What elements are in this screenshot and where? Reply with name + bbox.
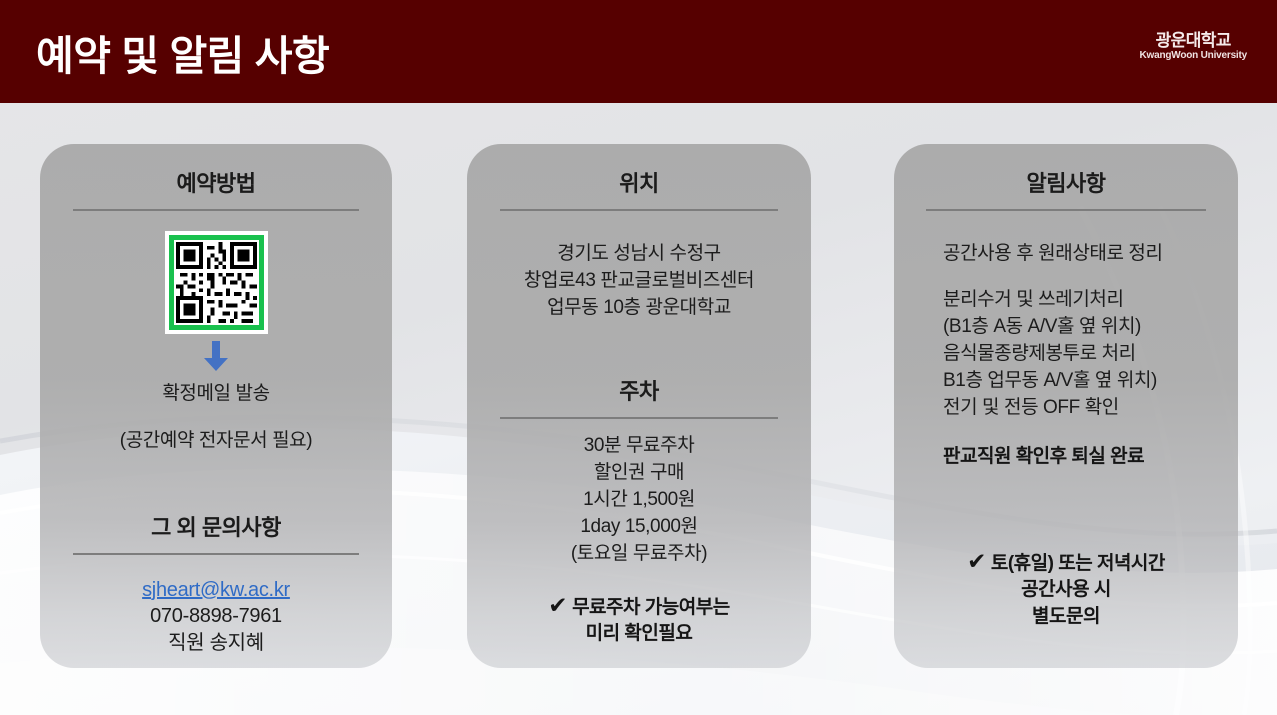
email-link[interactable]: sjheart@kw.ac.kr	[40, 577, 392, 603]
page-title: 예약 및 알림 사항	[36, 22, 329, 82]
contact-list: sjheart@kw.ac.kr 070-8898-7961 직원 송지혜	[40, 577, 392, 657]
final-line-3: 별도문의	[1032, 606, 1100, 627]
address-line: 창업로43 판교글로벌비즈센터	[467, 268, 811, 295]
parking-check-line1: 무료주차 가능여부는	[572, 597, 730, 618]
parking-list: 30분 무료주차 할인권 구매 1시간 1,500원 1day 15,000원 …	[467, 433, 811, 568]
notices-divider	[926, 209, 1206, 211]
final-line-1: 토(휴일) 또는 저녁시간	[991, 553, 1165, 574]
staff-name: 직원 송지혜	[40, 630, 392, 657]
notice-line: 공간사용 후 원래상태로 정리	[943, 241, 1238, 268]
title-divider	[73, 209, 359, 211]
logo-korean-text: 광운대학교	[1140, 32, 1248, 50]
card-location-parking: 위치 경기도 성남시 수정구 창업로43 판교글로벌비즈센터 업무동 10층 광…	[467, 144, 811, 668]
final-line-2: 공간사용 시	[1021, 579, 1111, 600]
parking-line: 1시간 1,500원	[467, 487, 811, 514]
contact-heading: 그 외 문의사항	[40, 510, 392, 542]
notice-strong-line: 판교직원 확인후 퇴실 완료	[943, 441, 1238, 468]
card-title-reservation: 예약방법	[40, 166, 392, 198]
address-line: 경기도 성남시 수정구	[467, 241, 811, 268]
notice-line: B1층 업무동 A/V홀 옆 위치)	[943, 368, 1238, 395]
slide-header: 예약 및 알림 사항 광운대학교 KwangWoon University	[0, 0, 1277, 103]
address-line: 업무동 10층 광운대학교	[467, 295, 811, 322]
card-title-notices: 알림사항	[894, 166, 1238, 198]
parking-check-note: ✔무료주차 가능여부는 미리 확인필요	[467, 590, 811, 647]
confirm-mail-text: 확정메일 발송	[40, 378, 392, 405]
check-icon: ✔	[967, 548, 986, 574]
logo-english-text: KwangWoon University	[1140, 51, 1248, 62]
notice-line: (B1층 A동 A/V홀 옆 위치)	[943, 314, 1238, 341]
notice-line: 음식물종량제봉투로 처리	[943, 341, 1238, 368]
notice-list: 공간사용 후 원래상태로 정리 분리수거 및 쓰레기처리 (B1층 A동 A/V…	[894, 241, 1238, 468]
parking-heading: 주차	[467, 374, 811, 406]
phone-number: 070-8898-7961	[40, 603, 392, 630]
qr-code-icon	[176, 242, 257, 323]
card-notices: 알림사항 공간사용 후 원래상태로 정리 분리수거 및 쓰레기처리 (B1층 A…	[894, 144, 1238, 668]
notice-spacer	[943, 268, 1238, 287]
parking-line: 1day 15,000원	[467, 514, 811, 541]
reservation-note-text: (공간예약 전자문서 필요)	[40, 425, 392, 452]
notice-spacer	[943, 422, 1238, 441]
notice-line: 분리수거 및 쓰레기처리	[943, 287, 1238, 314]
card-title-location: 위치	[467, 166, 811, 198]
university-logo: 광운대학교 KwangWoon University	[1140, 32, 1248, 61]
parking-line: 할인권 구매	[467, 460, 811, 487]
slide-canvas: 예약 및 알림 사항 광운대학교 KwangWoon University 예약…	[0, 0, 1277, 715]
location-divider	[500, 209, 778, 211]
arrow-down-icon	[201, 340, 231, 372]
address-block: 경기도 성남시 수정구 창업로43 판교글로벌비즈센터 업무동 10층 광운대학…	[467, 241, 811, 322]
qr-code-border	[169, 235, 264, 330]
notice-line: 전기 및 전등 OFF 확인	[943, 395, 1238, 422]
check-icon: ✔	[548, 592, 567, 618]
qr-code-frame[interactable]	[165, 231, 268, 334]
parking-check-line2: 미리 확인필요	[586, 623, 693, 644]
parking-line: 30분 무료주차	[467, 433, 811, 460]
card-reservation-method: 예약방법	[40, 144, 392, 668]
parking-line: (토요일 무료주차)	[467, 541, 811, 568]
down-arrow-container	[40, 340, 392, 374]
parking-divider	[500, 417, 778, 419]
notices-final-note: ✔토(휴일) 또는 저녁시간 공간사용 시 별도문의	[894, 545, 1238, 631]
contact-divider	[73, 553, 359, 555]
